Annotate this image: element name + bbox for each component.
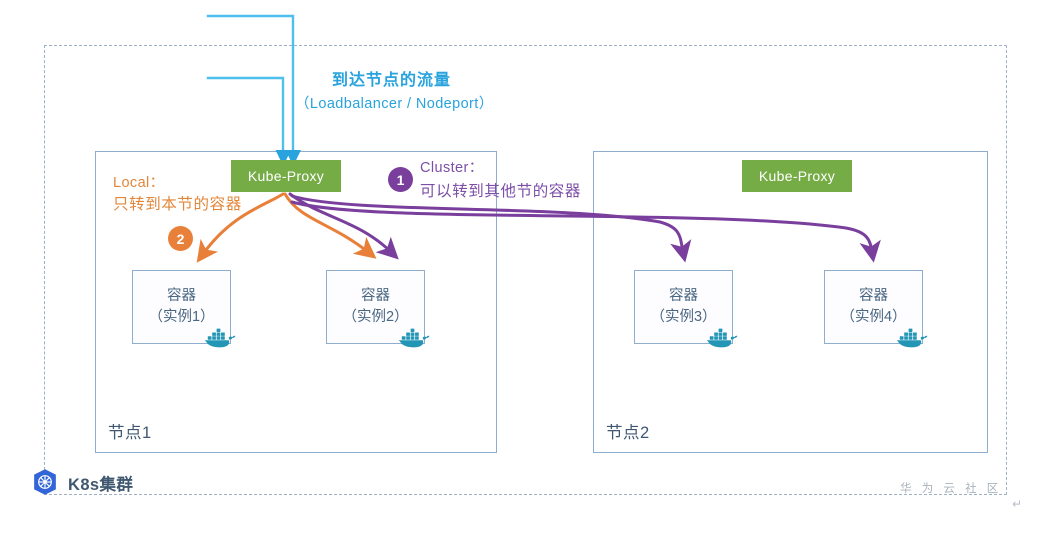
container-label-line1: 容器 bbox=[167, 286, 196, 307]
paragraph-mark-icon: ↵ bbox=[1012, 497, 1022, 511]
docker-whale-icon bbox=[396, 326, 430, 350]
local-policy-description: 只转到本节的容器 bbox=[113, 192, 242, 214]
container-label-line2: （实例1） bbox=[148, 307, 214, 328]
docker-whale-icon bbox=[704, 326, 738, 350]
node-label-2: 节点2 bbox=[606, 419, 650, 443]
local-policy-title: Local： bbox=[113, 171, 165, 192]
diagram-canvas: Kube-Proxy Kube-Proxy 到达节点的流量 （Loadbalan… bbox=[0, 0, 1047, 540]
cluster-policy-badge: 1 bbox=[388, 167, 413, 192]
docker-whale-icon bbox=[202, 326, 236, 350]
node-label-1: 节点1 bbox=[108, 419, 152, 443]
container-label-line1: 容器 bbox=[669, 286, 698, 307]
cluster-policy-description: 可以转到其他节的容器 bbox=[420, 179, 581, 201]
docker-whale-icon bbox=[894, 326, 928, 350]
kubernetes-helm-wheel-icon bbox=[31, 468, 59, 496]
cluster-policy-title: Cluster： bbox=[420, 156, 484, 177]
container-label-line2: （实例4） bbox=[840, 307, 906, 328]
ingress-traffic-title: 到达节点的流量 bbox=[332, 66, 451, 90]
watermark-text: 华 为 云 社 区 bbox=[900, 480, 1002, 496]
local-policy-badge: 2 bbox=[168, 226, 193, 251]
container-label-line1: 容器 bbox=[361, 286, 390, 307]
container-label-line1: 容器 bbox=[859, 286, 888, 307]
container-box-instance-1[interactable]: 容器 （实例1） bbox=[132, 270, 231, 344]
container-box-instance-4[interactable]: 容器 （实例4） bbox=[824, 270, 923, 344]
k8s-cluster-label: K8s集群 bbox=[68, 471, 133, 495]
container-label-line2: （实例3） bbox=[650, 307, 716, 328]
container-label-line2: （实例2） bbox=[342, 307, 408, 328]
container-box-instance-2[interactable]: 容器 （实例2） bbox=[326, 270, 425, 344]
kube-proxy-node-1[interactable]: Kube-Proxy bbox=[231, 160, 341, 192]
ingress-traffic-subtitle: （Loadbalancer / Nodeport） bbox=[295, 92, 494, 113]
kube-proxy-node-2[interactable]: Kube-Proxy bbox=[742, 160, 852, 192]
container-box-instance-3[interactable]: 容器 （实例3） bbox=[634, 270, 733, 344]
